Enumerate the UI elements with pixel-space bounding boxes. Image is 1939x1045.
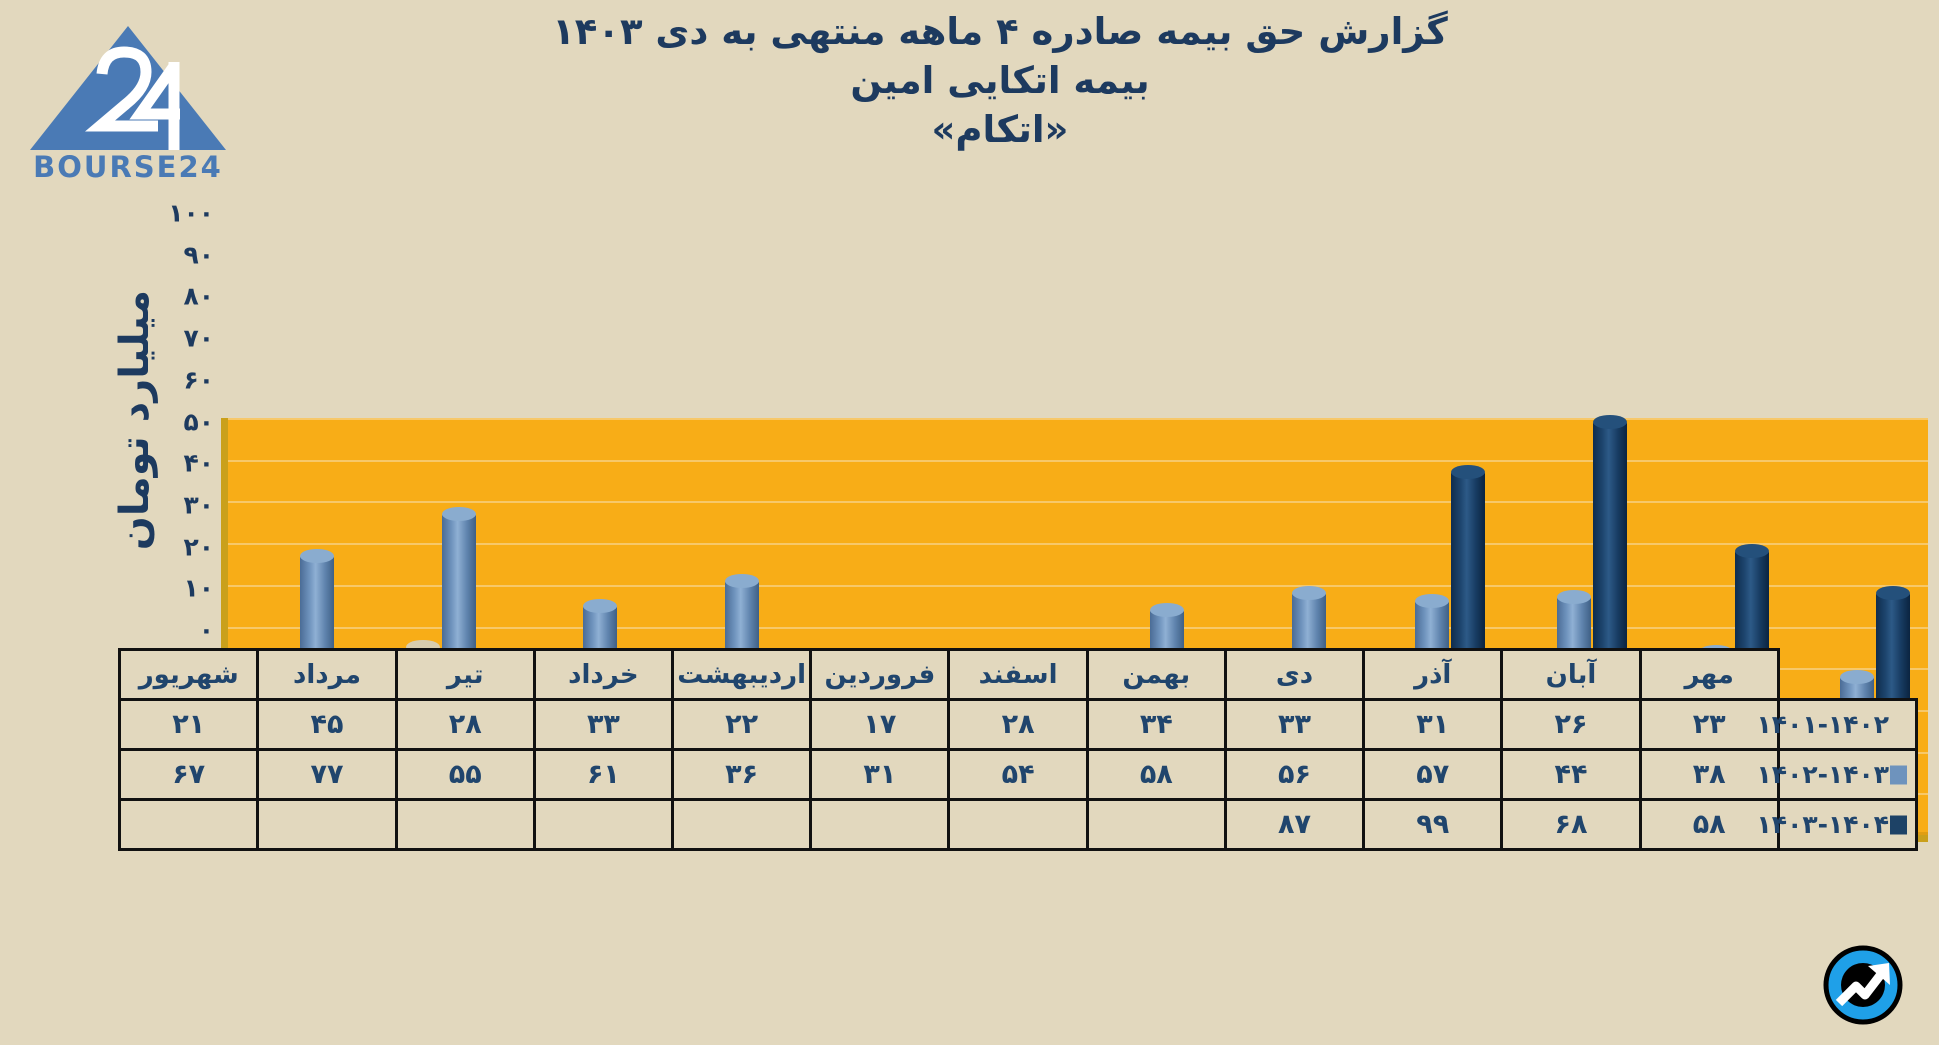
series-label-cell: ۱۴۰۳-۱۴۰۴ — [1778, 800, 1916, 850]
data-cell: ۵۷ — [1364, 750, 1502, 800]
month-header-cell: تیر — [396, 650, 534, 700]
title-line-2: بیمه اتکایی امین — [430, 57, 1570, 106]
data-cell: ۲۶ — [1502, 700, 1640, 750]
data-cell: ۴۴ — [1502, 750, 1640, 800]
data-cell — [258, 800, 396, 850]
data-cell: ۳۶ — [673, 750, 811, 800]
page-title: گزارش حق بیمه صادره ۴ ماهه منتهی به دی ۱… — [430, 8, 1570, 154]
data-cell: ۳۳ — [534, 700, 672, 750]
logo-brand-text: BOURSE24 — [28, 150, 228, 184]
data-cell — [1087, 800, 1225, 850]
data-cell: ۳۳ — [1225, 700, 1363, 750]
month-header-cell: اسفند — [949, 650, 1087, 700]
month-header-cell: اردیبهشت — [673, 650, 811, 700]
data-cell — [673, 800, 811, 850]
data-cell: ۲۲ — [673, 700, 811, 750]
series-label-cell: ۱۴۰۱-۱۴۰۲ — [1778, 700, 1916, 750]
data-cell: ۳۴ — [1087, 700, 1225, 750]
chart-area — [0, 205, 1939, 645]
data-cell: ۲۸ — [396, 700, 534, 750]
bar-cap — [442, 507, 476, 521]
month-header-cell: آذر — [1364, 650, 1502, 700]
data-cell — [396, 800, 534, 850]
legend-swatch — [1890, 765, 1907, 784]
data-cell: ۵۶ — [1225, 750, 1363, 800]
month-header-cell: مهر — [1640, 650, 1778, 700]
table-row: ۱۴۰۱-۱۴۰۲۲۳۲۶۳۱۳۳۳۴۲۸۱۷۲۲۳۳۲۸۴۵۲۱ — [120, 700, 1917, 750]
title-line-1: گزارش حق بیمه صادره ۴ ماهه منتهی به دی ۱… — [430, 8, 1570, 57]
data-cell — [120, 800, 258, 850]
bar-cap — [725, 574, 759, 588]
table-row: ۱۴۰۲-۱۴۰۳۳۸۴۴۵۷۵۶۵۸۵۴۳۱۳۶۶۱۵۵۷۷۶۷ — [120, 750, 1917, 800]
table-corner-cell — [1778, 650, 1916, 700]
bar-cap — [1150, 603, 1184, 617]
data-cell — [534, 800, 672, 850]
month-header-cell: آبان — [1502, 650, 1640, 700]
data-table-wrap: مهرآبانآذردیبهمناسفندفروردیناردیبهشتخردا… — [118, 648, 1918, 851]
bar-cap — [1292, 586, 1326, 600]
data-cell: ۶۷ — [120, 750, 258, 800]
data-cell: ۹۹ — [1364, 800, 1502, 850]
month-header-cell: خرداد — [534, 650, 672, 700]
logo-triangle-icon — [28, 22, 228, 152]
bar-cap — [583, 599, 617, 613]
data-cell: ۸۷ — [1225, 800, 1363, 850]
title-line-3: «اتکام» — [430, 106, 1570, 155]
table-header-row: مهرآبانآذردیبهمناسفندفروردیناردیبهشتخردا… — [120, 650, 1917, 700]
data-cell: ۵۸ — [1087, 750, 1225, 800]
trend-arrow-badge-icon — [1823, 945, 1903, 1025]
data-cell: ۱۷ — [811, 700, 949, 750]
month-header-cell: شهریور — [120, 650, 258, 700]
legend-swatch — [1890, 815, 1907, 834]
series-label-cell: ۱۴۰۲-۱۴۰۳ — [1778, 750, 1916, 800]
bar-cap — [1451, 465, 1485, 479]
data-cell: ۷۷ — [258, 750, 396, 800]
data-table: مهرآبانآذردیبهمناسفندفروردیناردیبهشتخردا… — [118, 648, 1918, 851]
month-header-cell: فروردین — [811, 650, 949, 700]
bar-cap — [1557, 590, 1591, 604]
data-cell: ۴۵ — [258, 700, 396, 750]
table-row: ۱۴۰۳-۱۴۰۴۵۸۶۸۹۹۸۷ — [120, 800, 1917, 850]
bar-cap — [1415, 594, 1449, 608]
bourse24-logo: BOURSE24 — [28, 22, 228, 197]
data-cell: ۵۵ — [396, 750, 534, 800]
data-cell: ۶۱ — [534, 750, 672, 800]
data-cell: ۶۸ — [1502, 800, 1640, 850]
bar-cap — [1735, 544, 1769, 558]
data-cell — [811, 800, 949, 850]
month-header-cell: بهمن — [1087, 650, 1225, 700]
bar-cap — [300, 549, 334, 563]
month-header-cell: مرداد — [258, 650, 396, 700]
data-cell: ۳۱ — [1364, 700, 1502, 750]
data-cell — [949, 800, 1087, 850]
data-cell: ۳۱ — [811, 750, 949, 800]
bar-cap — [1876, 586, 1910, 600]
data-cell: ۲۸ — [949, 700, 1087, 750]
bar-cap — [1593, 415, 1627, 429]
data-cell: ۲۱ — [120, 700, 258, 750]
month-header-cell: دی — [1225, 650, 1363, 700]
data-cell: ۵۴ — [949, 750, 1087, 800]
